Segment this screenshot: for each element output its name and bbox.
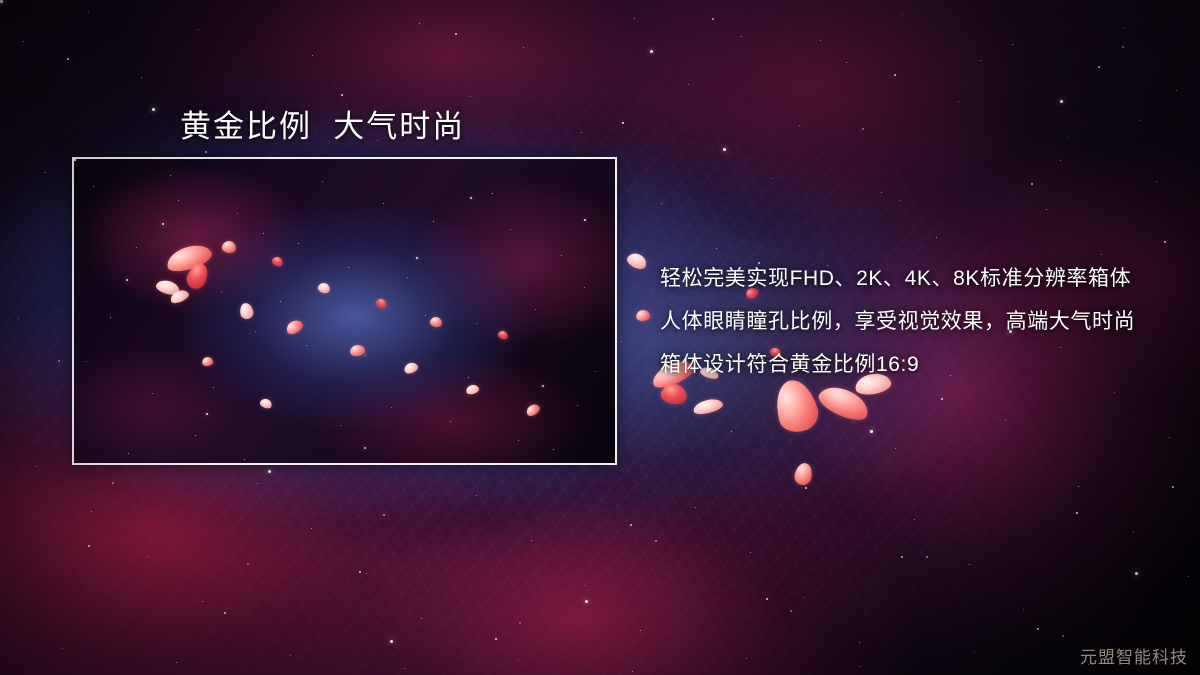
presentation-slide: 黄金比例 大气时尚 轻松完美实现FHD、2K、4K、8K标准分辨率箱体 人体眼睛… xyxy=(0,0,1200,675)
starfield-pink xyxy=(0,0,2,2)
body-line-2: 人体眼睛瞳孔比例，享受视觉效果，高端大气时尚 xyxy=(660,300,1160,343)
petal xyxy=(635,309,650,322)
petal xyxy=(793,461,814,486)
framed-photo[interactable] xyxy=(72,157,617,465)
body-line-3: 箱体设计符合黄金比例16:9 xyxy=(660,343,1160,386)
slide-body-text: 轻松完美实现FHD、2K、4K、8K标准分辨率箱体 人体眼睛瞳孔比例，享受视觉效… xyxy=(660,257,1160,386)
petal xyxy=(625,250,649,271)
photo-image xyxy=(74,159,615,463)
watermark-text: 元盟智能科技 xyxy=(1080,643,1188,668)
petal xyxy=(692,397,724,417)
body-line-1: 轻松完美实现FHD、2K、4K、8K标准分辨率箱体 xyxy=(660,257,1160,300)
petal xyxy=(815,381,873,426)
photo-starfield-medium xyxy=(74,159,76,161)
slide-title: 黄金比例 大气时尚 xyxy=(180,101,465,146)
